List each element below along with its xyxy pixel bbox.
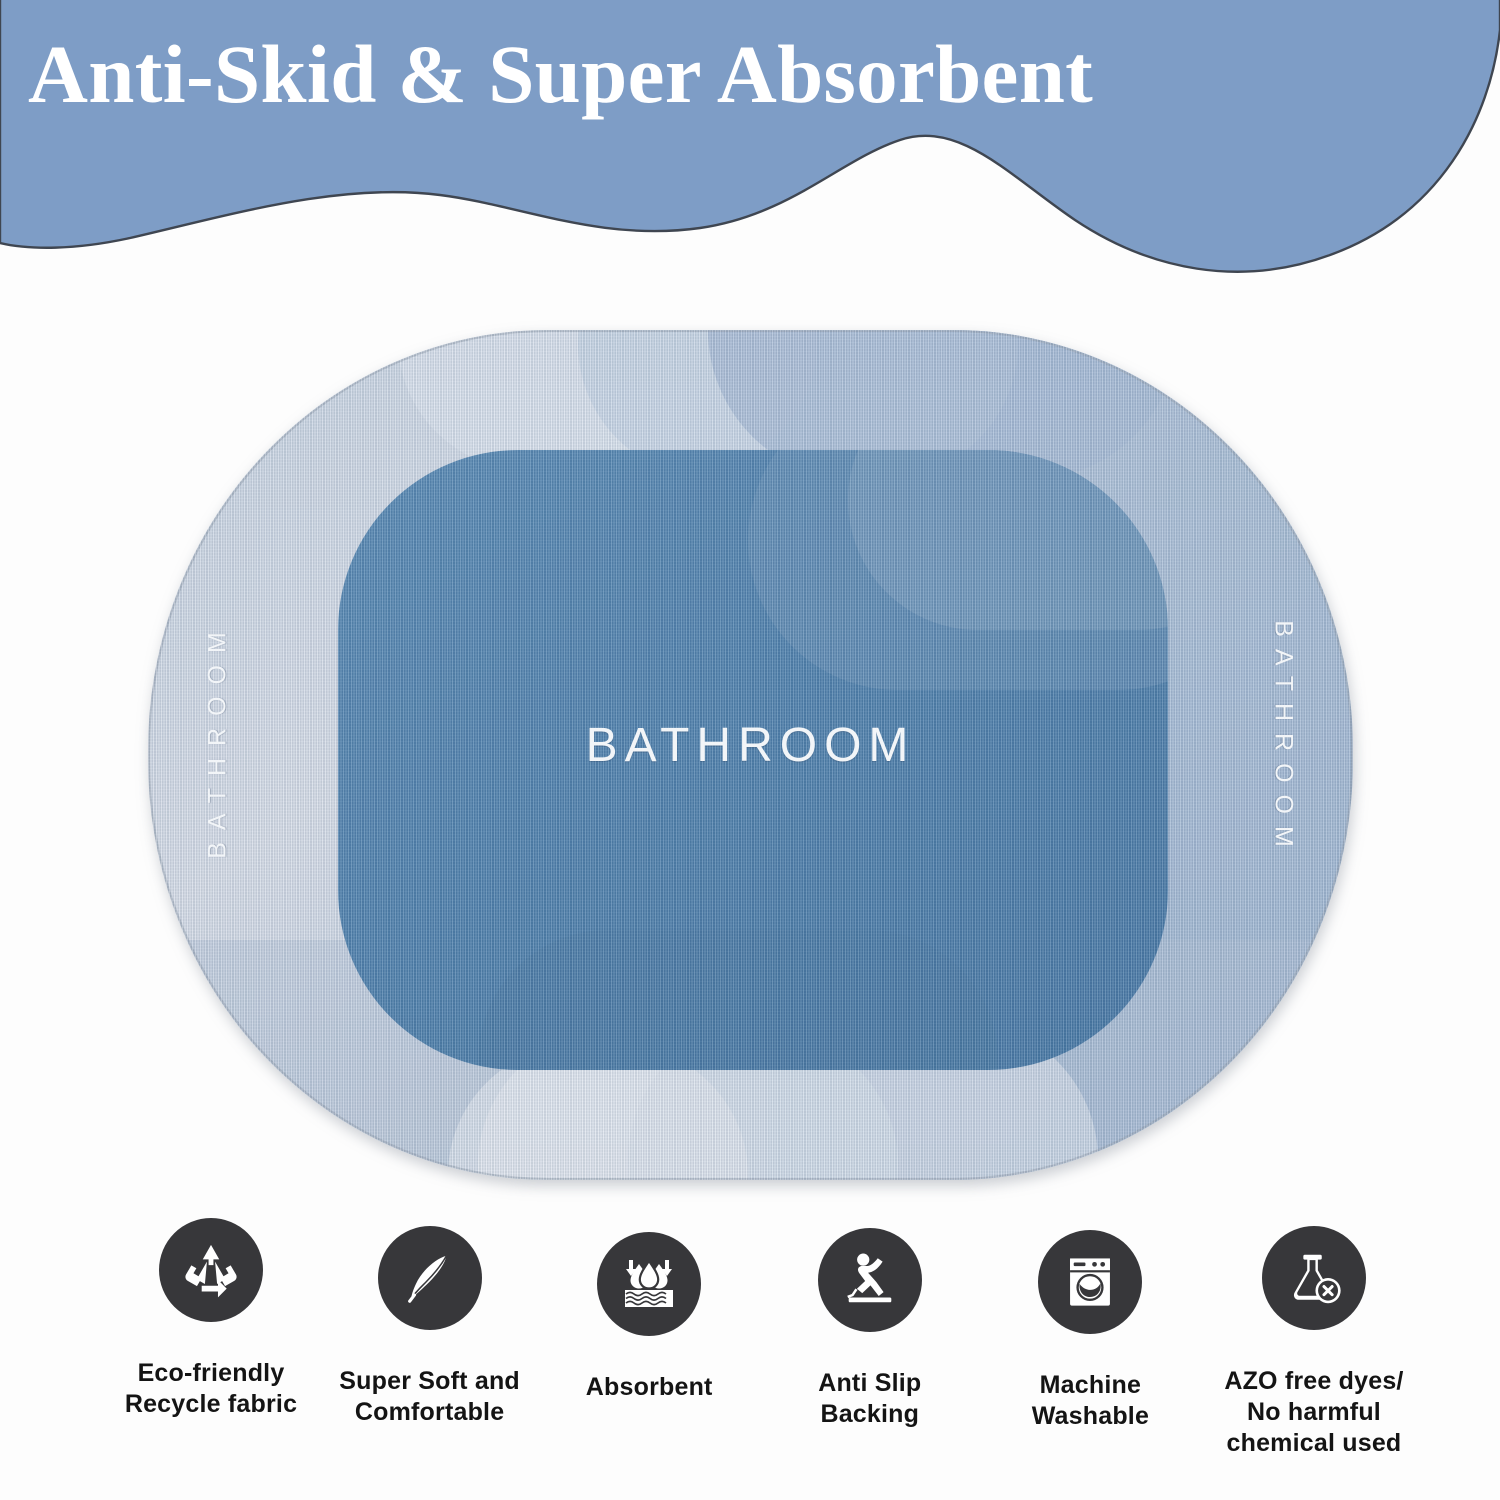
feature-item: Anti SlipBacking bbox=[764, 1228, 976, 1430]
absorbent-icon bbox=[597, 1232, 701, 1336]
mat-center-label: BATHROOM bbox=[148, 718, 1353, 773]
recycle-icon bbox=[159, 1218, 263, 1322]
header-banner: Anti-Skid & Super Absorbent bbox=[0, 0, 1500, 300]
feather-icon bbox=[378, 1226, 482, 1330]
anti-slip-icon bbox=[818, 1228, 922, 1332]
mat-left-label: BATHROOM bbox=[204, 570, 233, 910]
no-chemicals-icon bbox=[1262, 1226, 1366, 1330]
mat-right-label: BATHROOM bbox=[1269, 570, 1298, 910]
feature-item: AZO free dyes/No harmfulchemical used bbox=[1208, 1226, 1420, 1459]
feature-badges-row: Eco-friendlyRecycle fabric Super Soft an… bbox=[96, 1218, 1426, 1483]
feature-item: MachineWashable bbox=[984, 1230, 1196, 1432]
banner-title: Anti-Skid & Super Absorbent bbox=[28, 27, 1328, 121]
feature-item: Super Soft andComfortable bbox=[324, 1226, 536, 1428]
feature-caption: MachineWashable bbox=[1032, 1370, 1149, 1432]
feature-caption: Eco-friendlyRecycle fabric bbox=[125, 1358, 297, 1420]
bath-mat: BATHROOM BATHROOM BATHROOM bbox=[148, 330, 1353, 1180]
product-infographic: Anti-Skid & Super Absorbent bbox=[0, 0, 1500, 1500]
feature-caption: AZO free dyes/No harmfulchemical used bbox=[1224, 1366, 1403, 1459]
feature-caption: Absorbent bbox=[586, 1372, 713, 1403]
feature-item: Absorbent bbox=[543, 1232, 755, 1403]
washing-machine-icon bbox=[1038, 1230, 1142, 1334]
feature-caption: Super Soft andComfortable bbox=[339, 1366, 520, 1428]
feature-item: Eco-friendlyRecycle fabric bbox=[105, 1218, 317, 1420]
feature-caption: Anti SlipBacking bbox=[818, 1368, 921, 1430]
